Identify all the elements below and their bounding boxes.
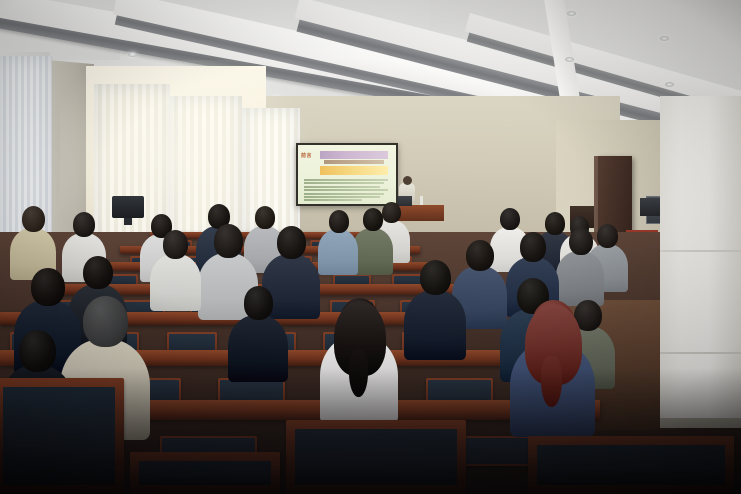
slide-body-line — [304, 186, 380, 188]
person-head — [466, 240, 494, 271]
slide-body-line — [304, 193, 384, 195]
conference-room-photo: 前言 — [0, 0, 741, 494]
person-head — [569, 228, 593, 255]
person-head — [163, 230, 188, 259]
chair-pad — [169, 334, 216, 350]
chair-pad — [220, 380, 283, 400]
wall-monitor-right — [640, 198, 660, 216]
person-ponytail — [349, 349, 368, 397]
downlight-icon-9 — [665, 82, 674, 87]
chair-pad — [428, 380, 491, 400]
person-head — [277, 226, 306, 259]
projection-screen-surface: 前言 — [298, 145, 396, 204]
person-head — [420, 260, 451, 295]
foreground-chair-pad — [139, 461, 271, 485]
slide-body-line — [304, 199, 362, 201]
attendee-woman-auburn — [510, 300, 595, 430]
person-head — [22, 206, 45, 232]
slide-body-line — [304, 196, 380, 198]
slide-body-line — [304, 182, 384, 184]
person-torso — [150, 254, 201, 311]
downlight-icon-1 — [128, 52, 137, 57]
baseboard — [660, 418, 741, 428]
person-head — [83, 256, 112, 289]
person-head — [73, 212, 95, 237]
person-head — [500, 208, 520, 230]
white-column — [660, 96, 741, 426]
downlight-icon-5 — [567, 11, 576, 16]
column-seam-lower — [660, 352, 741, 354]
attendee-left-tan — [10, 206, 56, 276]
person-torso — [318, 229, 358, 275]
attendee-blue-shirt-a — [318, 210, 358, 272]
foreground-chair-pad — [3, 387, 115, 485]
person-head — [520, 232, 546, 262]
attendee-woman-zebra — [320, 298, 398, 417]
attendee-white-c — [150, 230, 201, 307]
slide-accent-band — [320, 166, 388, 175]
slide-header-band — [320, 151, 388, 159]
slide-title: 前言 — [301, 152, 312, 159]
downlight-icon-6 — [565, 57, 574, 62]
attendee-dark-center — [228, 286, 288, 377]
water-bottle-icon — [420, 196, 423, 205]
person-head — [329, 210, 349, 233]
person-head — [244, 286, 274, 320]
foreground-chair-pad — [537, 445, 725, 485]
person-ponytail — [541, 356, 561, 408]
projection-screen: 前言 — [296, 143, 398, 206]
person-head — [214, 224, 244, 258]
foreground-chair-pad — [295, 429, 457, 485]
downlight-icon-8 — [660, 36, 669, 41]
slide-body-line — [304, 189, 388, 191]
column-seam-upper — [660, 250, 741, 252]
attendee-navy-mid — [404, 260, 466, 355]
person-head — [363, 208, 384, 231]
slide-body-line — [304, 179, 388, 181]
monitor-stand — [124, 218, 132, 225]
person-head — [19, 330, 56, 372]
person-torso — [404, 290, 466, 360]
presenter-head — [403, 176, 412, 185]
slide-header-text — [324, 160, 384, 164]
person-head — [83, 296, 128, 347]
person-torso — [228, 315, 288, 383]
